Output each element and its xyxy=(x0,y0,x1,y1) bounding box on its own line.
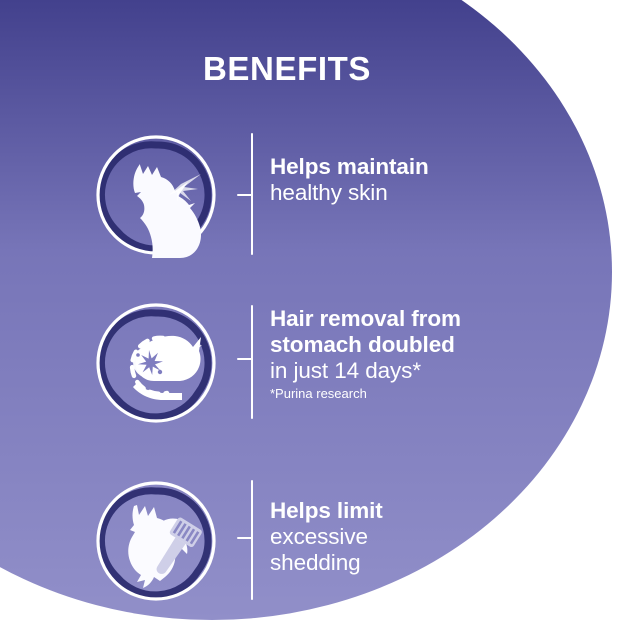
benefit-divider xyxy=(251,480,253,600)
benefit-line: shedding xyxy=(270,550,600,576)
cat-comb-shedding-icon xyxy=(93,478,219,604)
benefit-divider-tick xyxy=(237,194,252,196)
benefit-row: Helps limit excessive shedding xyxy=(0,478,640,604)
benefit-line: Helps maintain xyxy=(270,154,600,180)
benefit-row: Helps maintain healthy skin xyxy=(0,132,640,258)
benefit-divider xyxy=(251,305,253,419)
benefit-footnote: *Purina research xyxy=(270,385,600,402)
benefit-line: healthy skin xyxy=(270,180,600,206)
benefit-text: Helps limit excessive shedding xyxy=(270,498,600,576)
benefit-text: Helps maintain healthy skin xyxy=(270,154,600,206)
benefit-row: Hair removal from stomach doubled in jus… xyxy=(0,300,640,426)
benefit-text: Hair removal from stomach doubled in jus… xyxy=(270,306,600,402)
benefit-divider-tick xyxy=(237,358,252,360)
benefit-line: excessive xyxy=(270,524,600,550)
page-title: BENEFITS xyxy=(0,52,574,85)
benefit-line: Helps limit xyxy=(270,498,600,524)
cat-healthy-skin-icon xyxy=(93,132,219,258)
cat-hairball-removal-icon xyxy=(93,300,219,426)
benefits-infographic: BENEFITS Helps maintain healthy skin xyxy=(0,0,640,640)
benefit-line: in just 14 days* xyxy=(270,358,600,384)
benefit-line: stomach doubled xyxy=(270,332,600,358)
benefit-divider-tick xyxy=(237,537,252,539)
benefit-line: Hair removal from xyxy=(270,306,600,332)
